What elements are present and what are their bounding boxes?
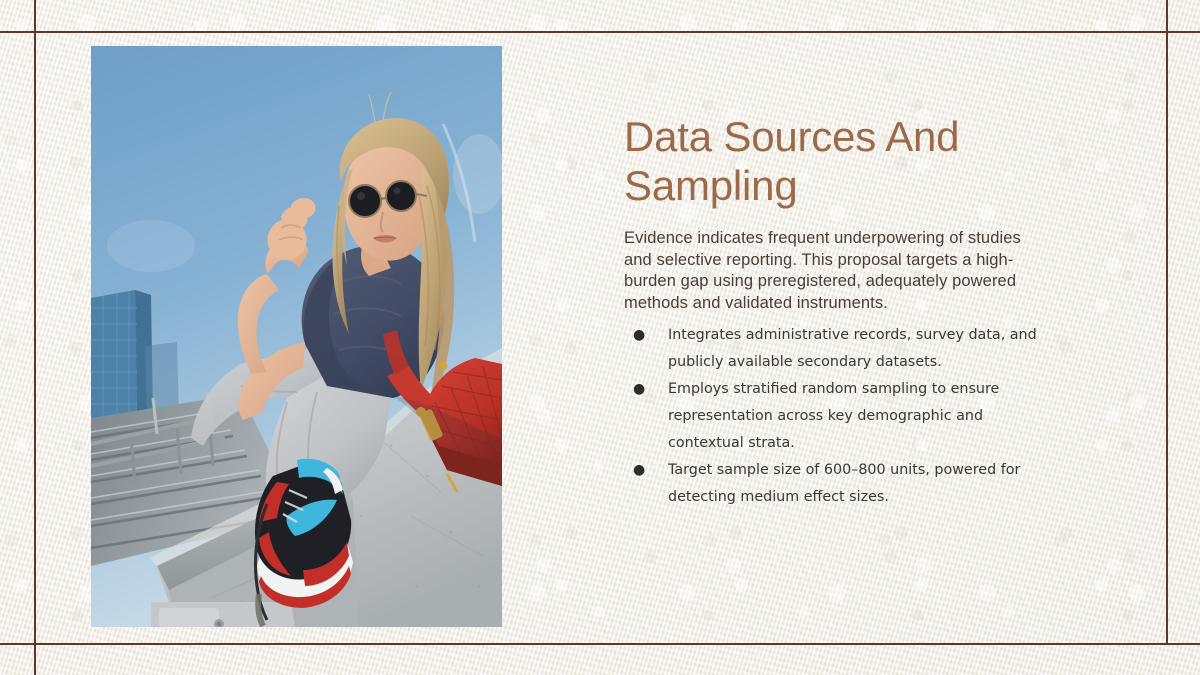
bullet-point-icon: ●: [633, 322, 645, 349]
slide-photo: [91, 46, 502, 627]
list-item: ● Employs stratified random sampling to …: [624, 376, 1044, 457]
bullet-point-icon: ●: [633, 376, 645, 403]
page-title: Data Sources And Sampling: [624, 112, 1044, 210]
list-item-label: Employs stratified random sampling to en…: [668, 381, 999, 451]
slide-canvas: Data Sources And Sampling Evidence indic…: [0, 0, 1200, 675]
text-column: Data Sources And Sampling Evidence indic…: [624, 112, 1044, 511]
bullet-list: ● Integrates administrative records, sur…: [624, 322, 1044, 511]
frame-rule-left: [34, 0, 36, 675]
list-item: ● Target sample size of 600–800 units, p…: [624, 457, 1044, 511]
body-paragraph: Evidence indicates frequent underpowerin…: [624, 228, 1044, 314]
frame-rule-bottom: [0, 643, 1200, 645]
list-item-label: Integrates administrative records, surve…: [668, 327, 1037, 370]
bullet-point-icon: ●: [633, 457, 645, 484]
list-item: ● Integrates administrative records, sur…: [624, 322, 1044, 376]
photo-illustration: [91, 46, 502, 627]
list-item-label: Target sample size of 600–800 units, pow…: [668, 462, 1020, 505]
frame-rule-top: [0, 31, 1200, 33]
frame-rule-right: [1166, 0, 1168, 645]
